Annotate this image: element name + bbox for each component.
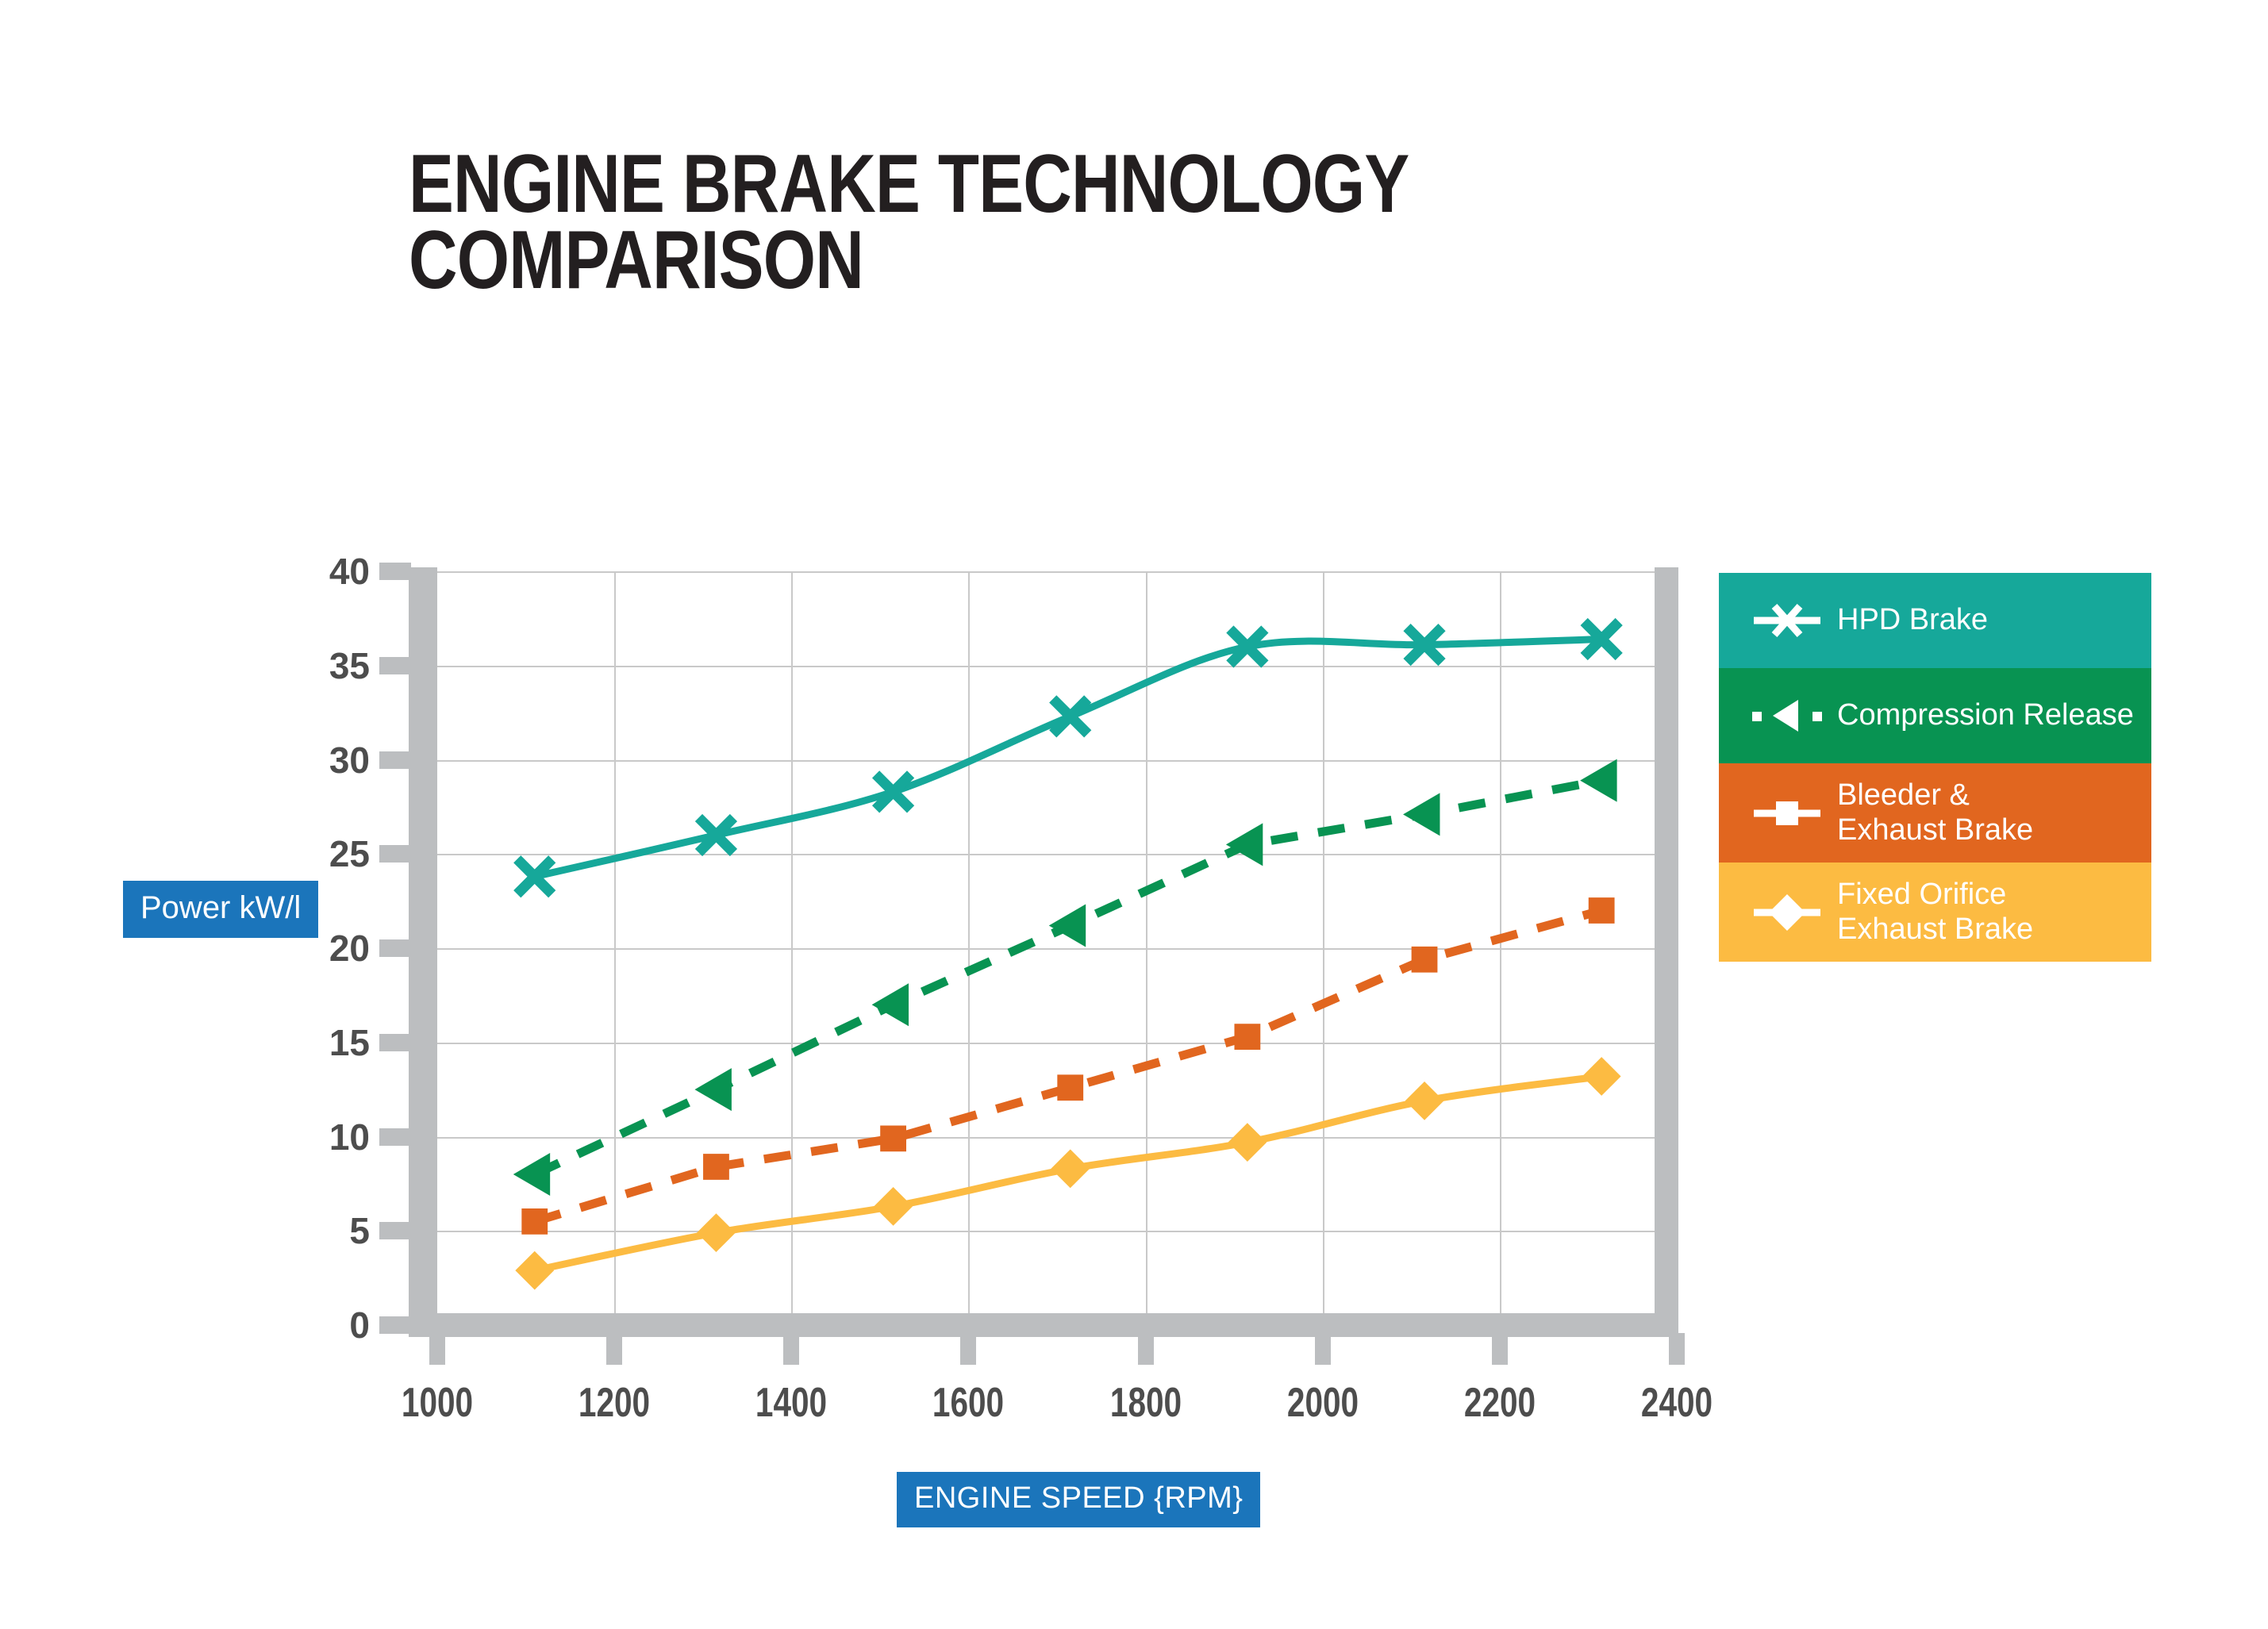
- triangle-left-icon: [1751, 695, 1824, 736]
- diamond-icon: [1751, 892, 1824, 933]
- chart-legend: HPD BrakeCompression ReleaseBleeder & Ex…: [1719, 573, 2151, 962]
- y-axis-tick: [379, 751, 411, 769]
- y-axis-tick-label: 5: [275, 1209, 370, 1252]
- legend-item-1[interactable]: HPD Brake: [1719, 573, 2151, 668]
- y-axis-tick: [379, 845, 411, 863]
- x-axis-tick: [1492, 1333, 1508, 1365]
- x-axis-tick-label: 1800: [1084, 1379, 1208, 1427]
- gridline-horizontal: [437, 760, 1677, 762]
- x-axis-tick-label: 1000: [375, 1379, 499, 1427]
- gridline-vertical: [1500, 571, 1501, 1325]
- legend-item-4[interactable]: Fixed Orifice Exhaust Brake: [1719, 863, 2151, 962]
- x-axis-tick: [960, 1333, 976, 1365]
- legend-item-3[interactable]: Bleeder & Exhaust Brake: [1719, 763, 2151, 863]
- gridline-vertical: [791, 571, 793, 1325]
- y-axis-tick: [379, 657, 411, 674]
- legend-item-2[interactable]: Compression Release: [1719, 668, 2151, 763]
- gridline-horizontal: [437, 571, 1677, 573]
- x-axis-tick: [1669, 1333, 1685, 1365]
- x-cross-icon: [1751, 600, 1824, 641]
- legend-label: Compression Release: [1837, 698, 2134, 732]
- y-axis-tick-label: 40: [275, 550, 370, 593]
- x-axis-tick: [606, 1333, 622, 1365]
- y-axis-tick: [379, 1128, 411, 1146]
- legend-label: HPD Brake: [1837, 603, 1988, 637]
- legend-label: Bleeder & Exhaust Brake: [1837, 778, 2033, 847]
- gridline-horizontal: [437, 948, 1677, 950]
- legend-label: Fixed Orifice Exhaust Brake: [1837, 878, 2033, 947]
- y-axis-tick-label: 0: [275, 1304, 370, 1347]
- x-axis-tick-label: 1200: [552, 1379, 676, 1427]
- gridline-vertical: [1323, 571, 1324, 1325]
- x-axis-tick-label: 2200: [1438, 1379, 1562, 1427]
- x-axis-tick: [429, 1333, 445, 1365]
- gridline-vertical: [614, 571, 616, 1325]
- plot-area: [437, 571, 1677, 1325]
- x-axis-tick-label: 1400: [729, 1379, 853, 1427]
- square-icon: [1751, 793, 1824, 834]
- y-axis-tick-label: 15: [275, 1021, 370, 1064]
- x-axis-tick-label: 2000: [1261, 1379, 1385, 1427]
- gridline-horizontal: [437, 1137, 1677, 1139]
- gridline-horizontal: [437, 666, 1677, 667]
- legend-marker: [1749, 695, 1824, 736]
- y-axis-bar: [409, 567, 437, 1333]
- y-axis-tick: [379, 563, 411, 580]
- x-axis-tick: [783, 1333, 799, 1365]
- y-axis-tick-label: 25: [275, 832, 370, 875]
- x-axis-tick-label: 1600: [906, 1379, 1030, 1427]
- x-axis-bar: [409, 1313, 1678, 1337]
- y-axis-title: Power kW/l: [123, 881, 318, 938]
- legend-marker: [1749, 600, 1824, 641]
- chart-figure: 0510152025303540 10001200140016001800200…: [0, 0, 2268, 1629]
- y-axis-tick: [379, 1316, 411, 1334]
- y-axis-tick: [379, 1034, 411, 1051]
- legend-marker: [1749, 892, 1824, 933]
- x-axis-tick: [1138, 1333, 1154, 1365]
- gridline-horizontal: [437, 1043, 1677, 1044]
- x-axis-title: ENGINE SPEED {RPM}: [897, 1472, 1260, 1527]
- plot-right-border: [1655, 567, 1678, 1333]
- y-axis-tick: [379, 1222, 411, 1239]
- y-axis-tick-label: 35: [275, 644, 370, 687]
- legend-marker: [1749, 793, 1824, 834]
- x-axis-tick: [1315, 1333, 1331, 1365]
- y-axis-tick-label: 30: [275, 739, 370, 782]
- y-axis-tick: [379, 939, 411, 957]
- gridline-horizontal: [437, 854, 1677, 855]
- gridline-horizontal: [437, 1231, 1677, 1232]
- x-axis-tick-label: 2400: [1615, 1379, 1739, 1427]
- gridline-vertical: [968, 571, 970, 1325]
- y-axis-tick-label: 10: [275, 1116, 370, 1158]
- gridline-vertical: [1146, 571, 1147, 1325]
